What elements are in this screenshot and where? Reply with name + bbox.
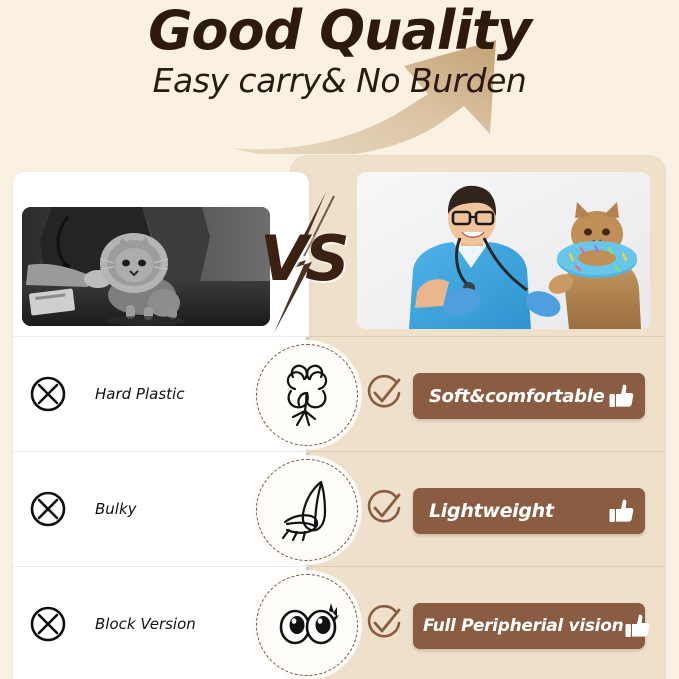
cartoon-eyes-icon xyxy=(269,587,345,663)
page-subtitle: Easy carry& No Burden xyxy=(0,62,679,100)
check-circle-icon xyxy=(363,372,405,414)
con-label: Bulky xyxy=(95,497,255,521)
photo-hard-cone-grayscale xyxy=(22,207,270,326)
con-label: Block Version xyxy=(95,612,255,636)
thumbs-up-icon xyxy=(623,611,653,641)
row-separator xyxy=(291,451,665,452)
feature-row: Block Version Full Peripherial vi xyxy=(0,566,679,679)
x-circle-icon xyxy=(28,604,68,644)
page-title: Good Quality xyxy=(0,2,679,60)
thumbs-up-icon xyxy=(607,381,637,411)
feather-icon xyxy=(271,474,343,546)
row-separator xyxy=(13,566,309,567)
vs-label: VS xyxy=(260,228,347,290)
pro-label: Full Peripherial vision xyxy=(423,616,623,636)
row-separator xyxy=(13,336,309,337)
header-banner: Good Quality Easy carry& No Burden xyxy=(0,0,679,158)
x-circle-icon xyxy=(28,374,68,414)
row-separator xyxy=(13,451,309,452)
pro-label: Soft&comfortable xyxy=(429,386,605,407)
check-circle-icon xyxy=(363,602,405,644)
vs-badge: VS xyxy=(252,190,362,335)
infographic-stage: Good Quality Easy carry& No Burden xyxy=(0,0,679,679)
photo-inflatable-collar-color xyxy=(357,172,650,329)
center-icon-badge xyxy=(256,344,358,446)
thumbs-up-icon xyxy=(607,496,637,526)
feature-row: Bulky Lightweight xyxy=(0,451,679,566)
pro-pill[interactable]: Lightweight xyxy=(413,488,645,534)
pro-label: Lightweight xyxy=(429,500,554,522)
con-label: Hard Plastic xyxy=(95,382,255,406)
feature-row: Hard Plastic xyxy=(0,336,679,451)
x-circle-icon xyxy=(28,489,68,529)
center-icon-badge xyxy=(256,574,358,676)
row-separator xyxy=(291,336,665,337)
center-icon-badge xyxy=(256,459,358,561)
cotton-flower-icon xyxy=(271,359,343,431)
pro-pill[interactable]: Full Peripherial vision xyxy=(413,603,645,649)
pro-pill[interactable]: Soft&comfortable xyxy=(413,373,645,419)
check-circle-icon xyxy=(363,487,405,529)
row-separator xyxy=(291,566,665,567)
